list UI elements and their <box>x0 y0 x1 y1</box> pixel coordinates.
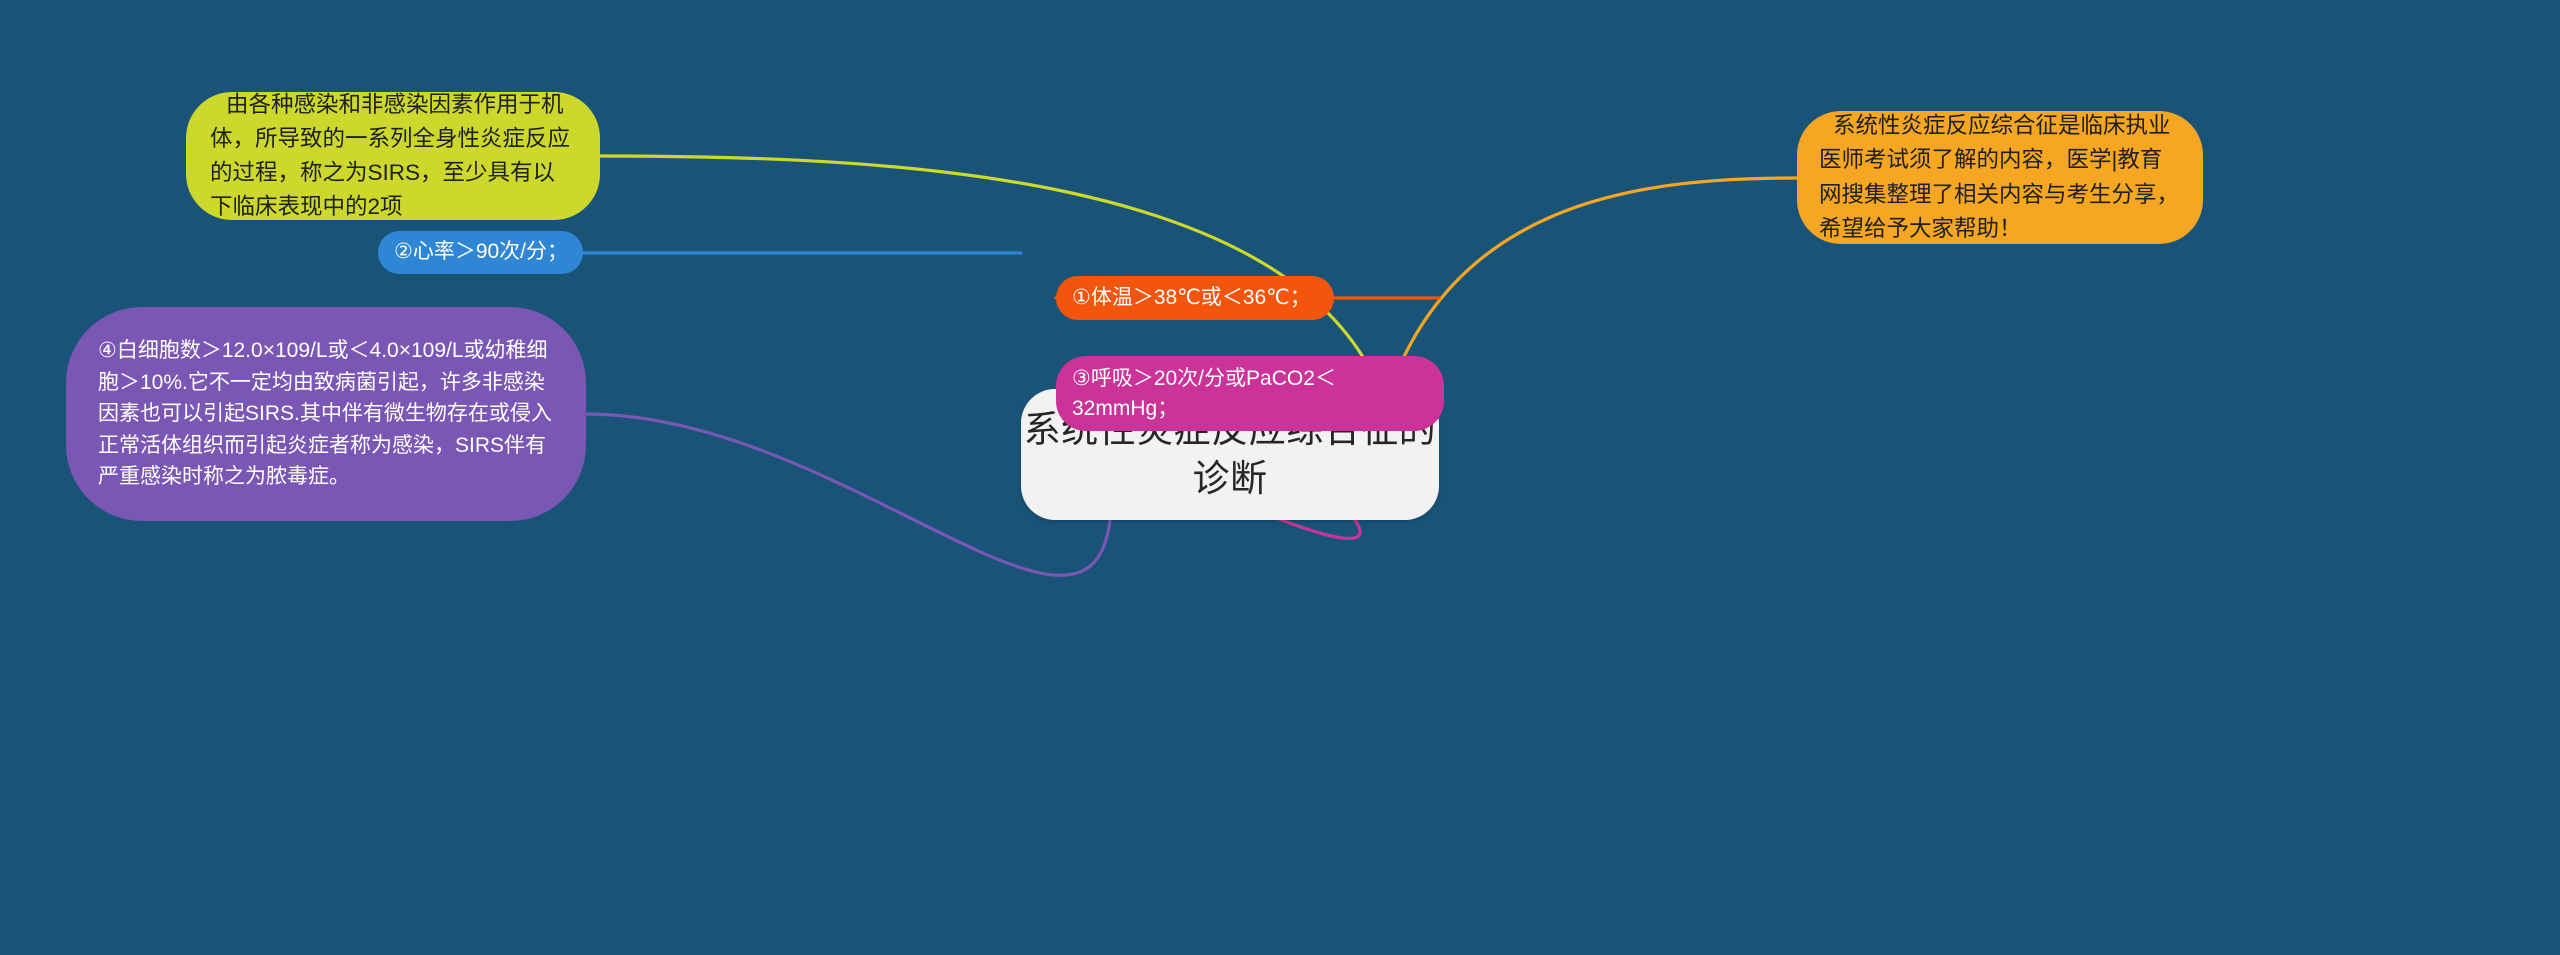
branch-node-criterion-2-label: ②心率＞90次/分； <box>394 238 569 266</box>
mindmap-canvas: 由各种感染和非感染因素作用于机体，所导致的一系列全身性炎症反应的过程，称之为SI… <box>0 0 2560 955</box>
branch-node-criterion-4-label: ④白细胞数＞12.0×109/L或＜4.0×109/L或幼稚细胞＞10%.它不一… <box>98 335 556 493</box>
branch-node-criterion-4[interactable]: ④白细胞数＞12.0×109/L或＜4.0×109/L或幼稚细胞＞10%.它不一… <box>66 307 586 521</box>
connector-definition-line <box>600 156 1380 390</box>
branch-node-criterion-1-label: ①体温＞38℃或＜36℃； <box>1072 284 1320 312</box>
branch-node-criterion-3[interactable]: ③呼吸＞20次/分或PaCO2＜32mmHg； <box>1056 356 1444 431</box>
connector-intro-line <box>1390 178 1797 390</box>
branch-node-definition[interactable]: 由各种感染和非感染因素作用于机体，所导致的一系列全身性炎症反应的过程，称之为SI… <box>186 92 600 220</box>
branch-node-intro[interactable]: 系统性炎症反应综合征是临床执业医师考试须了解的内容，医学|教育网搜集整理了相关内… <box>1797 111 2203 244</box>
branch-node-criterion-2[interactable]: ②心率＞90次/分； <box>378 231 583 274</box>
branch-node-criterion-1[interactable]: ①体温＞38℃或＜36℃； <box>1056 276 1334 320</box>
branch-node-definition-label: 由各种感染和非感染因素作用于机体，所导致的一系列全身性炎症反应的过程，称之为SI… <box>210 88 574 225</box>
branch-node-criterion-3-label: ③呼吸＞20次/分或PaCO2＜32mmHg； <box>1072 364 1430 424</box>
branch-node-intro-label: 系统性炎症反应综合征是临床执业医师考试须了解的内容，医学|教育网搜集整理了相关内… <box>1819 109 2181 246</box>
